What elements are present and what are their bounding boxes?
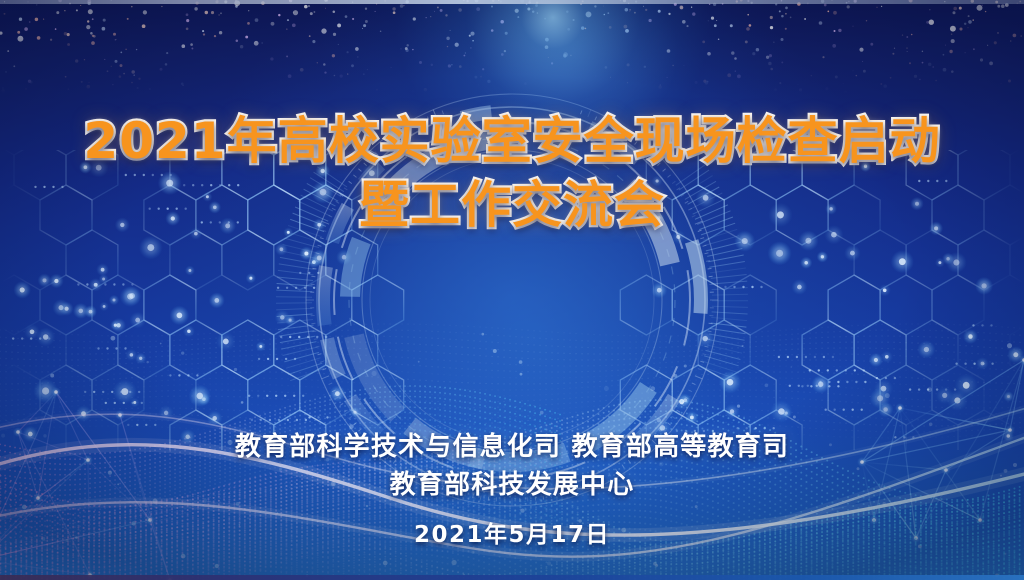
title-block: 2021年高校实验室安全现场检查启动 暨工作交流会 bbox=[0, 116, 1024, 230]
page-title-line-1: 2021年高校实验室安全现场检查启动 bbox=[0, 116, 1024, 166]
organizer-line-1: 教育部科学技术与信息化司 教育部高等教育司 bbox=[0, 430, 1024, 466]
organizers-block: 教育部科学技术与信息化司 教育部高等教育司 教育部科技发展中心 bbox=[0, 430, 1024, 504]
event-date: 2021年5月17日 bbox=[0, 515, 1024, 549]
organizer-line-2: 教育部科技发展中心 bbox=[0, 468, 1024, 504]
banner-content: 2021年高校实验室安全现场检查启动 暨工作交流会 教育部科学技术与信息化司 教… bbox=[0, 0, 1024, 580]
conference-banner: 2021年高校实验室安全现场检查启动 暨工作交流会 教育部科学技术与信息化司 教… bbox=[0, 0, 1024, 580]
page-title-line-2: 暨工作交流会 bbox=[0, 180, 1024, 230]
